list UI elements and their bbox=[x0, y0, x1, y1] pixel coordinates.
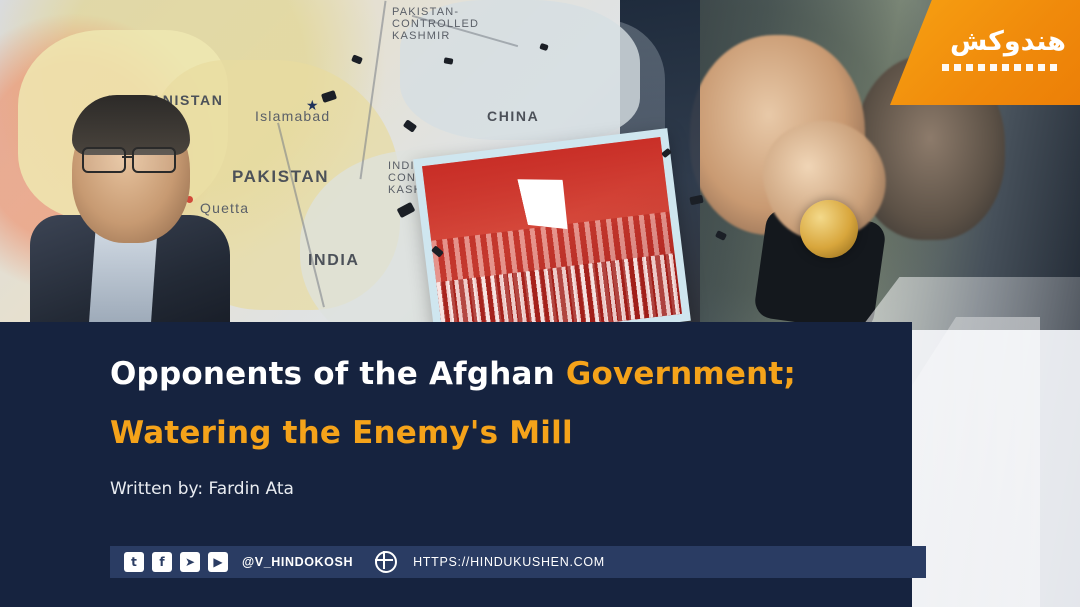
map-label-china: CHINA bbox=[487, 108, 539, 124]
glasses-lens-right bbox=[132, 147, 176, 173]
panel-bottom-fill bbox=[0, 578, 912, 607]
twitter-icon[interactable]: t bbox=[124, 552, 144, 572]
byline: Written by: Fardin Ata bbox=[110, 479, 912, 499]
footer-bar: t f ➤ ▶ @V_HINDOKOSH HTTPS://HINDUKUSHEN… bbox=[110, 546, 926, 578]
glasses-bridge bbox=[122, 156, 132, 158]
glasses-icon bbox=[82, 147, 182, 169]
headline-line-1-plain: Opponents of the Afghan bbox=[110, 356, 566, 392]
footer-left-fill bbox=[0, 546, 110, 578]
portrait-man bbox=[30, 95, 230, 330]
map-label-islamabad: Islamabad bbox=[255, 108, 330, 124]
inset-photo-content bbox=[422, 137, 682, 343]
glasses-lens-left bbox=[82, 147, 126, 173]
debris-particle bbox=[444, 57, 454, 64]
headline-content: Opponents of the Afghan Government; Wate… bbox=[0, 322, 912, 499]
headline-line-2: Watering the Enemy's Mill bbox=[110, 415, 912, 452]
map-label-pakistan-controlled-kashmir: PAKISTAN- CONTROLLED KASHMIR bbox=[392, 6, 479, 42]
globe-icon bbox=[375, 551, 397, 573]
brand-logo-underline bbox=[942, 64, 1062, 71]
youtube-icon[interactable]: ▶ bbox=[208, 552, 228, 572]
headline-panel: Opponents of the Afghan Government; Wate… bbox=[0, 322, 912, 556]
poster-canvas: ★ PAKISTAN- CONTROLLED KASHMIR AFGHANIST… bbox=[0, 0, 1080, 607]
telegram-icon[interactable]: ➤ bbox=[180, 552, 200, 572]
man-hair bbox=[72, 95, 190, 155]
headline-line-1: Opponents of the Afghan Government; bbox=[110, 356, 912, 393]
headline-line-1-accent: Government; bbox=[566, 356, 796, 392]
brand-logo-text: هندوکش bbox=[950, 26, 1066, 57]
map-label-india: INDIA bbox=[308, 252, 360, 270]
facebook-icon[interactable]: f bbox=[152, 552, 172, 572]
map-label-pakistan: PAKISTAN bbox=[232, 167, 329, 187]
social-handle[interactable]: @V_HINDOKOSH bbox=[242, 555, 353, 569]
medal-icon bbox=[800, 200, 858, 258]
man-shirt bbox=[89, 230, 158, 330]
inset-photo-protest bbox=[413, 128, 691, 352]
website-url[interactable]: HTTPS://HINDUKUSHEN.COM bbox=[413, 555, 605, 569]
